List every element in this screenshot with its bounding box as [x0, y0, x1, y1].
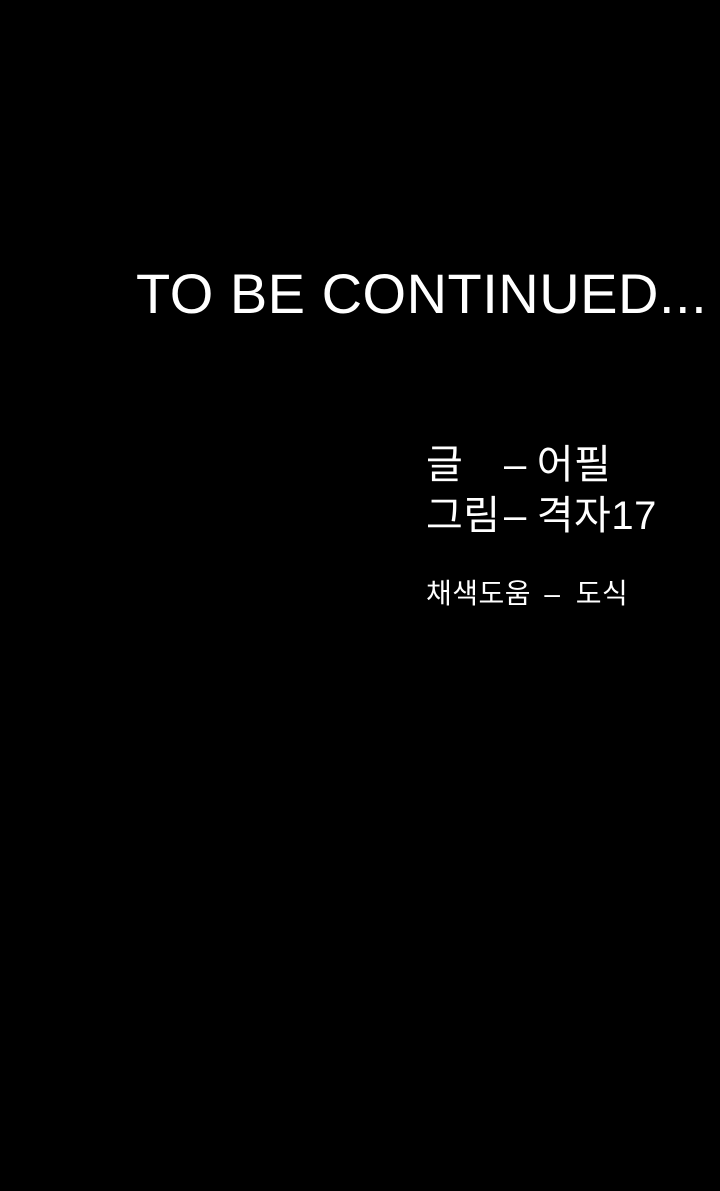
credit-row: 글 – 어필: [426, 440, 657, 491]
secondary-credit-name-value: 도식: [576, 577, 629, 611]
credit-name-value: 어필: [537, 440, 612, 491]
credit-name-value: 격자17: [537, 491, 657, 542]
page-title: TO BE CONTINUED...: [136, 266, 707, 322]
credit-separator-dash: –: [504, 440, 537, 491]
secondary-credit-role-label: 채색도움: [426, 578, 531, 609]
credit-separator-dash: –: [504, 491, 537, 542]
secondary-credit-row: 채색도움 – 도식: [426, 577, 628, 611]
comic-end-panel: TO BE CONTINUED... 글 – 어필 그림 – 격자17 채색도움…: [0, 0, 720, 1191]
credits-block: 글 – 어필 그림 – 격자17: [426, 440, 657, 542]
credit-row: 그림 – 격자17: [426, 491, 657, 542]
secondary-credit-separator-dash: –: [539, 577, 567, 611]
credit-role-label: 그림: [426, 491, 504, 542]
credit-role-label: 글: [426, 440, 504, 491]
